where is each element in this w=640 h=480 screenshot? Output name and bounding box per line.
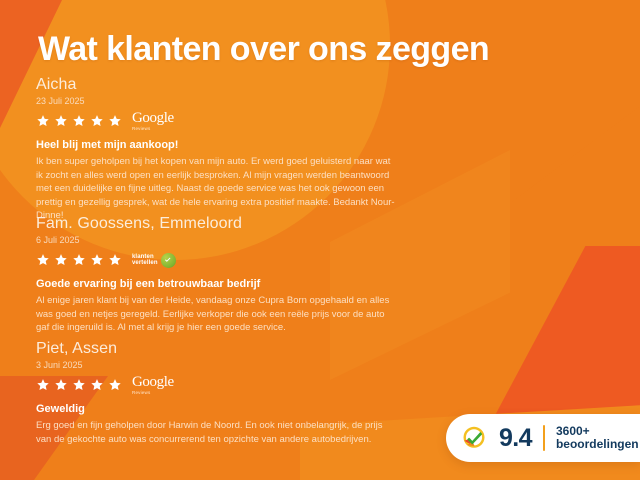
klantenvertellen-wordmark: klanten vertellen <box>132 254 158 267</box>
review-body: Ik ben super geholpen bij het kopen van … <box>36 155 396 223</box>
review-meta: Google Reviews <box>36 111 396 131</box>
review-meta: Google Reviews <box>36 375 396 395</box>
star-icon <box>36 378 50 392</box>
star-icon <box>108 253 122 267</box>
rating-count-block: 3600+ beoordelingen <box>556 425 639 451</box>
review-card: Fam. Goossens, Emmeloord 6 Juli 2025 kla… <box>36 215 396 335</box>
review-date: 3 Juni 2025 <box>36 359 396 372</box>
google-wordmark: Google <box>132 111 184 126</box>
star-icon <box>36 114 50 128</box>
star-rating <box>36 114 122 128</box>
star-rating <box>36 253 122 267</box>
klantenvertellen-check-icon <box>460 424 488 452</box>
star-icon <box>90 378 104 392</box>
review-card: Aicha 23 Juli 2025 Google Reviews Heel b… <box>36 76 396 223</box>
klantenvertellen-line2: vertellen <box>132 260 158 267</box>
star-icon <box>54 114 68 128</box>
google-reviews-sub: Reviews <box>132 390 184 395</box>
reviewer-name: Fam. Goossens, Emmeloord <box>36 215 396 233</box>
star-icon <box>72 253 86 267</box>
review-heading: Geweldig <box>36 402 396 416</box>
review-heading: Goede ervaring bij een betrouwbaar bedri… <box>36 277 396 291</box>
google-reviews-logo: Google Reviews <box>132 111 184 131</box>
verified-check-icon <box>161 253 176 268</box>
rating-count-label: beoordelingen <box>556 438 639 451</box>
star-rating <box>36 378 122 392</box>
rating-badge[interactable]: 9.4 3600+ beoordelingen <box>446 414 640 462</box>
rating-score: 9.4 <box>499 426 532 451</box>
star-icon <box>72 114 86 128</box>
star-icon <box>36 253 50 267</box>
review-body: Al enige jaren klant bij van der Heide, … <box>36 294 396 335</box>
google-wordmark: Google <box>132 375 184 390</box>
star-icon <box>54 378 68 392</box>
review-date: 6 Juli 2025 <box>36 234 396 247</box>
star-icon <box>72 378 86 392</box>
review-date: 23 Juli 2025 <box>36 95 396 108</box>
star-icon <box>90 114 104 128</box>
star-icon <box>108 378 122 392</box>
review-meta: klanten vertellen <box>36 250 396 270</box>
review-heading: Heel blij met mijn aankoop! <box>36 138 396 152</box>
content-layer: Wat klanten over ons zeggen Aicha 23 Jul… <box>0 0 640 480</box>
reviewer-name: Aicha <box>36 76 396 94</box>
google-reviews-sub: Reviews <box>132 126 184 131</box>
testimonial-banner: VDH Wat klanten over ons zeggen Aicha 23… <box>0 0 640 480</box>
review-body: Erg goed en fijn geholpen door Harwin de… <box>36 419 396 446</box>
badge-divider <box>543 425 545 451</box>
star-icon <box>90 253 104 267</box>
reviewer-name: Piet, Assen <box>36 340 396 358</box>
star-icon <box>108 114 122 128</box>
klantenvertellen-logo: klanten vertellen <box>132 253 176 268</box>
google-reviews-logo: Google Reviews <box>132 375 184 395</box>
star-icon <box>54 253 68 267</box>
review-card: Piet, Assen 3 Juni 2025 Google Reviews G… <box>36 340 396 446</box>
page-title: Wat klanten over ons zeggen <box>38 30 489 69</box>
